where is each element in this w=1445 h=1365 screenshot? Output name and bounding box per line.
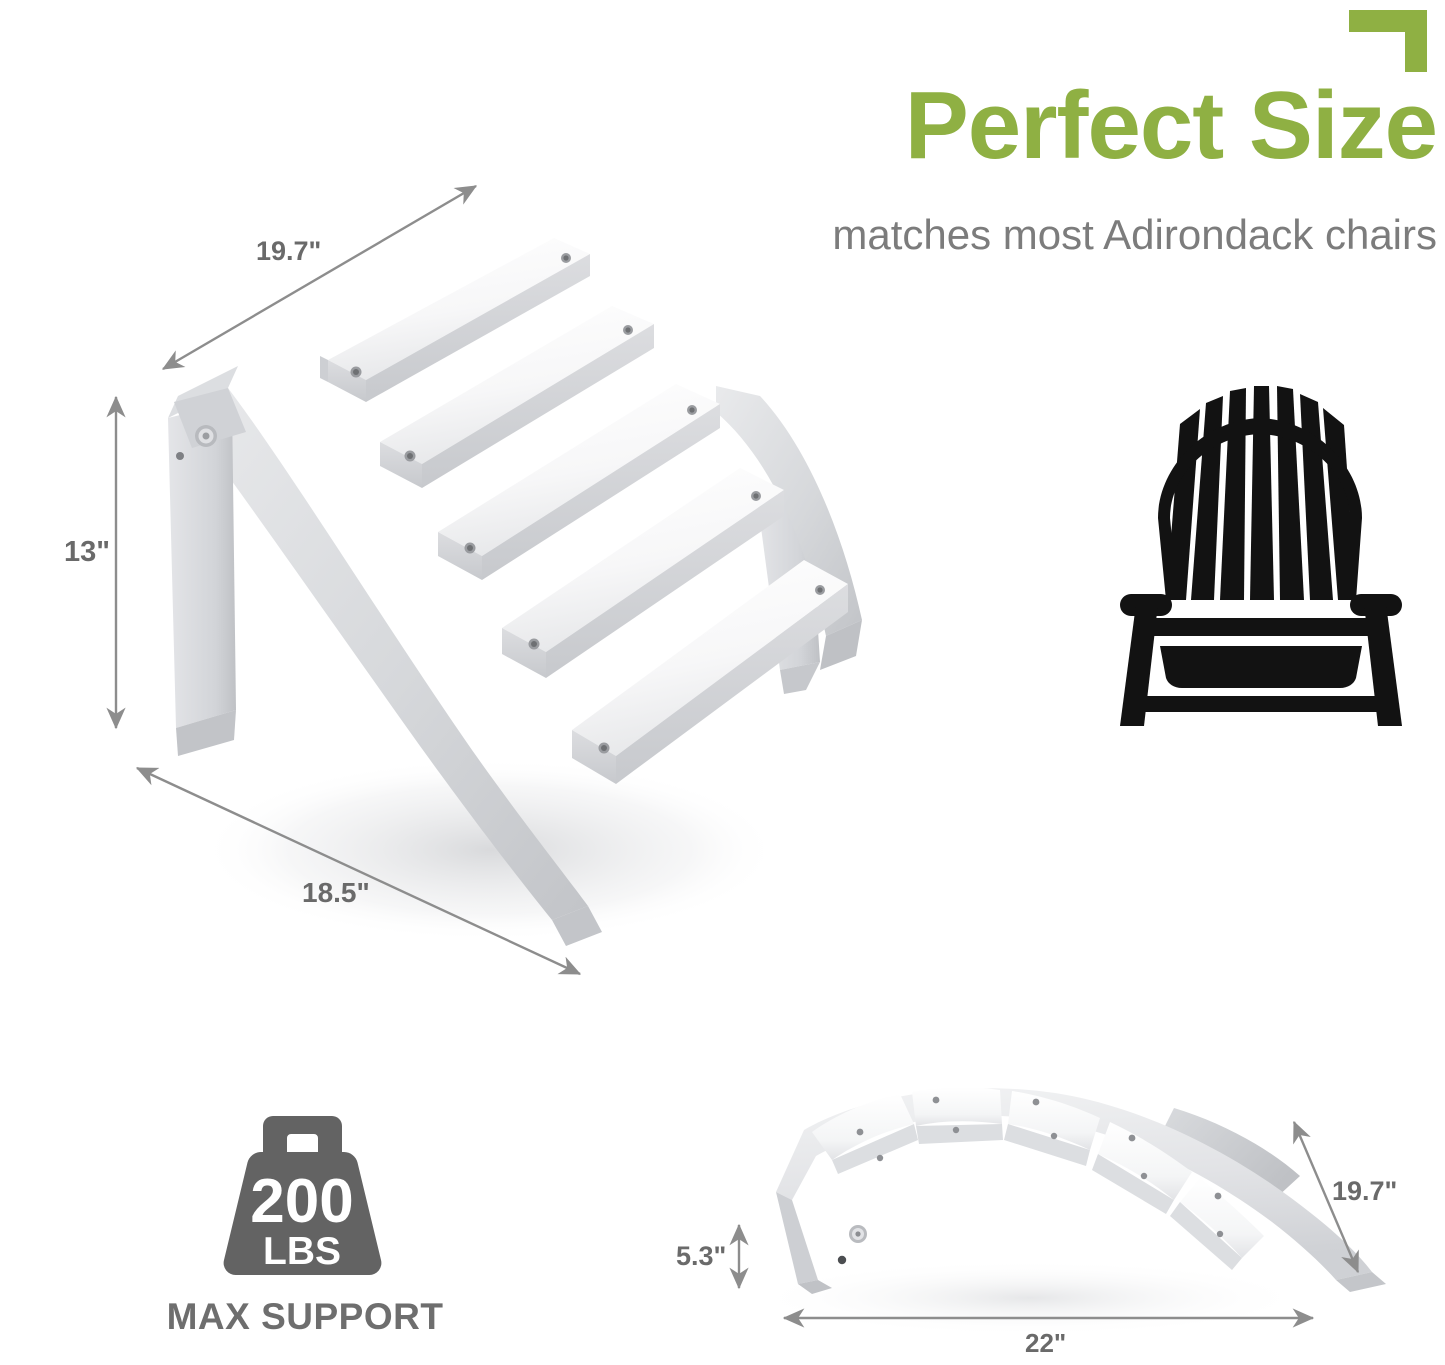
max-support-caption: MAX SUPPORT — [140, 1296, 470, 1338]
corner-bracket-vertical-bar — [1405, 10, 1427, 72]
dimension-label-height-left: 13" — [64, 536, 110, 569]
max-support-badge: 200 LBS MAX SUPPORT — [140, 1112, 470, 1362]
adirondack-chair-silhouette-icon — [1108, 378, 1413, 733]
max-support-value: 200 — [250, 1167, 353, 1236]
dimension-label-folded-height: 5.3" — [676, 1241, 726, 1272]
ottoman-folded-side-icon — [700, 1070, 1445, 1360]
adirondack-ottoman-3d-icon — [120, 150, 920, 990]
dimension-label-folded-depth: 19.7" — [1332, 1176, 1397, 1207]
hero-product-image — [120, 150, 920, 990]
folded-product-image — [700, 1070, 1445, 1360]
max-support-unit: LBS — [263, 1230, 341, 1273]
weight-kettlebell-icon: 200 LBS — [195, 1112, 410, 1292]
dimension-label-depth-bottom: 18.5" — [302, 877, 370, 909]
dimension-label-width-top: 19.7" — [256, 236, 321, 267]
dimension-label-folded-width: 22" — [1025, 1328, 1066, 1359]
corner-bracket-icon — [1349, 10, 1427, 72]
